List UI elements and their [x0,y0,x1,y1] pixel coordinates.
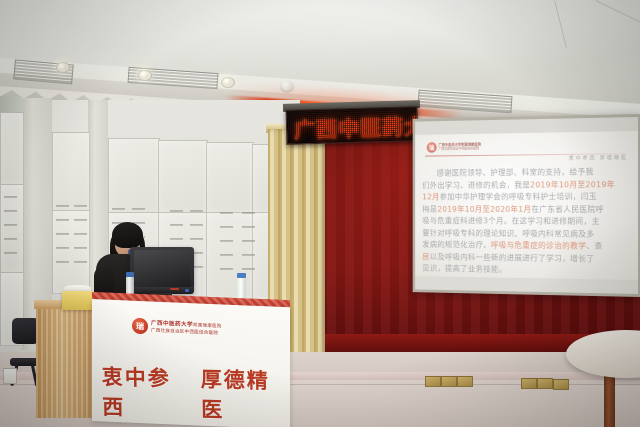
slide-text-line: 梅是2019年10月至2020年1月在广东省人民医院呼 [422,203,630,216]
slide-hospital-logo: 瑞 广西中医药大学附属瑞康医院 广西壮族自治区中西医结合医院 [427,141,481,152]
slide-logo-line2: 广西壮族自治区中西医结合医院 [438,147,481,151]
slide-plain-text: 以及呼吸内科一些新的进展进行了学习，增长了 [430,251,595,263]
banner-logo-affiliate: 附属瑞康医院 [193,322,222,328]
brass-step-tile [521,378,537,389]
banner-slogan: 衷中参西 厚德精医 [101,361,287,426]
ceiling-spotlight [140,71,148,78]
banner-slogan-part2: 厚德精医 [200,363,287,425]
brass-step-tile [553,379,569,390]
slide-plain-text: 见识，提高了业务技能。 [422,263,506,274]
water-bottle-cap [126,272,134,277]
slide-plain-text: 梅是 [422,204,437,214]
banner-hospital-logo: 瑞 广西中医药大学附属瑞康医院 广西壮族自治区中西医结合医院 [132,318,222,338]
hospital-logo-icon: 瑞 [132,318,148,335]
led-scrolling-sign: 广西中医药大 [286,106,419,145]
water-bottle-cap [237,273,246,278]
slide-plain-text: 发病的规范化治疗、 [422,239,491,249]
slide-plain-text: 、查 [586,241,602,251]
wall-socket[interactable] [3,368,17,384]
monitor-power-button[interactable] [170,288,179,290]
lecture-hall-photo: 广西中医药大 瑞 广西中医药大学附属瑞康医院 广西壮族自治区中西医结合医院 衷中… [0,0,640,427]
slide-highlight-text: 2019年10月至2020年1月 [437,204,531,214]
acoustic-panel [0,112,24,186]
slide-text-line: 12月参加中华护理学会的呼吸专科护士培训，闫玉 [422,190,630,203]
slide-plain-text: 在广东省人民医院呼 [531,204,604,214]
slide-text-line: 们外出学习、进修的机会，我是2019年10月至2019年 [422,178,630,191]
led-pixel-grid [287,107,418,144]
brass-step-tile [425,376,441,387]
slide-highlight-text: 呼吸与危重症的诊治的教学 [491,240,586,251]
slide-plain-text: 们外出学习、进修的机会，我是 [422,179,530,189]
slide-plain-text: 感谢医院领导、护理部、科室的支持，给予我 [437,166,594,177]
slide-plain-text: 参加中华护理学会的呼吸专科护士培训，闫玉 [440,191,597,201]
smoke-detector-icon [281,81,293,91]
powerpoint-slide: 瑞 广西中医药大学附属瑞康医院 广西壮族自治区中西医结合医院 衷中参西 厚德精医… [420,139,632,273]
tissue-box[interactable] [62,291,94,310]
brass-step-tile [441,376,457,387]
monitor-led-indicator [185,289,189,292]
slide-highlight-text: 12月 [422,192,439,202]
slide-plain-text: 要针对呼吸专科的理论知识、呼吸内科常见病及多 [422,227,594,238]
slide-body-text: 感谢医院领导、护理部、科室的支持，给予我们外出学习、进修的机会，我是2019年1… [422,165,630,278]
slide-highlight-text: 2019年10月至2019年 [530,179,615,189]
brass-step-tile [537,378,553,389]
speaker-hair [112,222,143,248]
banner-slogan-part1: 衷中参西 [101,361,188,423]
slide-motto: 衷中参西 厚德精医 [569,154,628,162]
ceiling-spotlight [223,78,231,85]
podium-banner-content: 瑞 广西中医药大学附属瑞康医院 广西壮族自治区中西医结合医院 衷中参西 厚德精医 [92,299,290,427]
slide-plain-text: 吸与危重症科进修3个月。在这学习和进修期间，主 [422,216,599,226]
brass-step-tile [457,376,473,387]
projection-screen: 瑞 广西中医药大学附属瑞康医院 广西壮族自治区中西医结合医院 衷中参西 厚德精医… [415,117,638,294]
office-chair-back[interactable] [12,318,39,344]
monitor-screen[interactable] [134,250,190,288]
hospital-logo-icon: 瑞 [427,142,437,153]
slide-text-line: 吸与危重症科进修3个月。在这学习和进修期间，主 [422,215,630,228]
ceiling-spotlight [58,63,66,70]
